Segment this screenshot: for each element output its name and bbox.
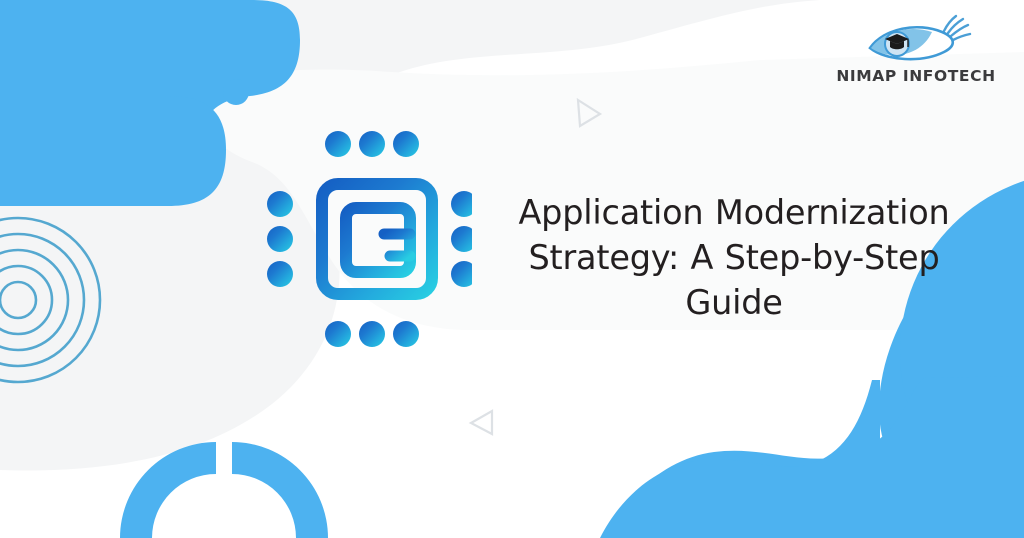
logo-wordmark: NIMAP INFOTECH xyxy=(830,67,1002,85)
banner-canvas: Application Modernization Strategy: A St… xyxy=(0,0,1024,538)
brand-logo[interactable]: NIMAP INFOTECH xyxy=(830,14,1002,85)
banner-title: Application Modernization Strategy: A St… xyxy=(508,190,960,325)
dot-top-left xyxy=(223,79,249,105)
blob-top-left-lower xyxy=(0,96,226,206)
microchip-icon xyxy=(258,122,472,356)
eye-with-graduation-cap-icon xyxy=(860,14,972,66)
title-block: Application Modernization Strategy: A St… xyxy=(508,190,960,325)
chip-core xyxy=(346,208,410,272)
